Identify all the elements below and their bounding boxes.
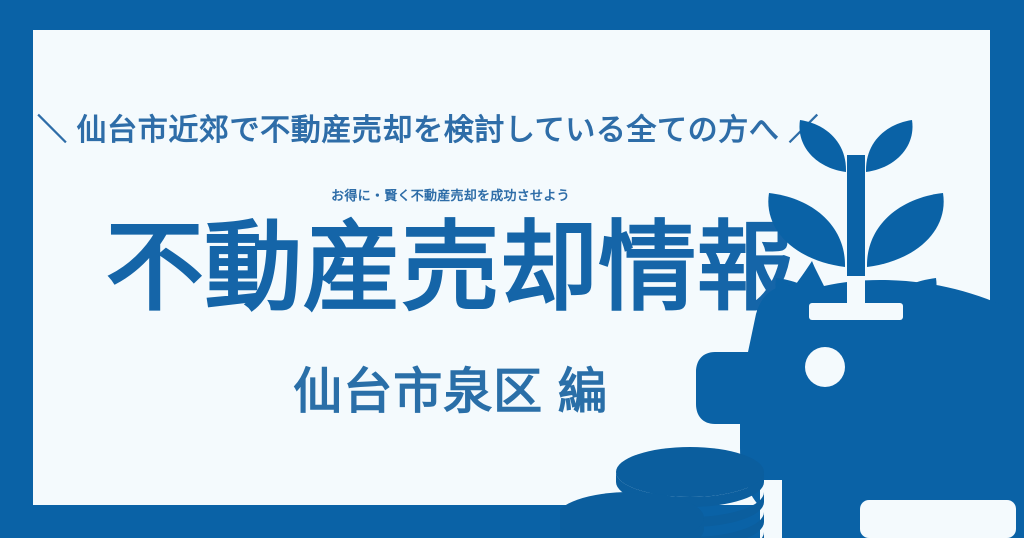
coin-stack-icon	[560, 447, 764, 538]
promo-banner: ＼ 仙台市近郊で不動産売却を検討している全ての方へ ／ お得に・賢く不動産売却を…	[0, 0, 1024, 538]
piggy-foot-gap	[860, 500, 1016, 538]
piggy-eye-icon	[805, 347, 845, 387]
piggy-bank-illustration	[560, 80, 1024, 538]
illustration-svg	[560, 80, 1024, 538]
